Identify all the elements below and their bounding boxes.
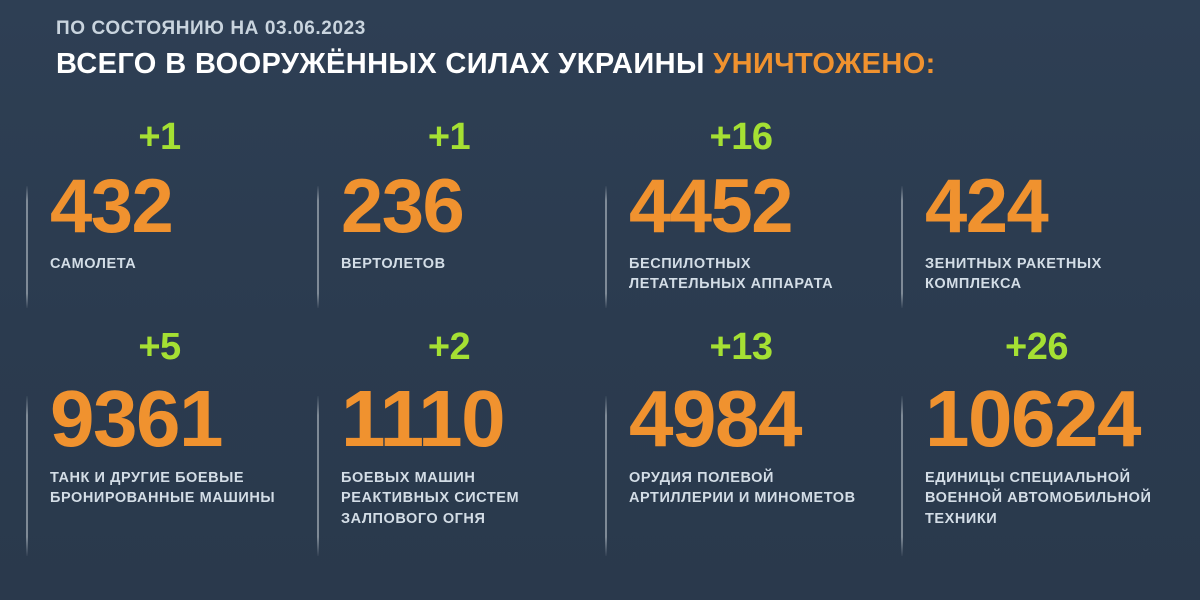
stat-label-line: ВЕРТОЛЕТОВ bbox=[341, 254, 597, 275]
stat-value: 10624 bbox=[925, 382, 1188, 456]
stat-label: ТАНК И ДРУГИЕ БОЕВЫЕ БРОНИРОВАННЫЕ МАШИН… bbox=[50, 468, 309, 509]
stat-label: ЕДИНИЦЫ СПЕЦИАЛЬНОЙ ВОЕННОЙ АВТОМОБИЛЬНО… bbox=[925, 468, 1188, 530]
stat-label-line: ТАНК И ДРУГИЕ БОЕВЫЕ bbox=[50, 468, 309, 489]
stat-label-line: САМОЛЕТА bbox=[50, 254, 309, 275]
stats-row: +5 9361 ТАНК И ДРУГИЕ БОЕВЫЕ БРОНИРОВАНН… bbox=[0, 328, 1200, 568]
stat-value: 1110 bbox=[341, 382, 597, 456]
stat-label: ОРУДИЯ ПОЛЕВОЙ АРТИЛЛЕРИИ И МИНОМЕТОВ bbox=[629, 468, 893, 509]
delta-badge: +1 bbox=[50, 118, 309, 164]
cell-divider bbox=[26, 396, 28, 556]
page-title-accent: УНИЧТОЖЕНО: bbox=[713, 48, 935, 80]
cell-divider bbox=[317, 186, 319, 308]
stat-label-line: ЗЕНИТНЫХ РАКЕТНЫХ bbox=[925, 254, 1188, 275]
cell-divider bbox=[26, 186, 28, 308]
stat-label-line: РЕАКТИВНЫХ СИСТЕМ bbox=[341, 488, 597, 509]
stat-cell-military-vehicles: +26 10624 ЕДИНИЦЫ СПЕЦИАЛЬНОЙ ВОЕННОЙ АВ… bbox=[901, 328, 1196, 568]
stat-value: 9361 bbox=[50, 382, 309, 456]
stat-label-line: АРТИЛЛЕРИИ И МИНОМЕТОВ bbox=[629, 488, 893, 509]
infographic-board: ПО СОСТОЯНИЮ НА 03.06.2023 ВСЕГО В ВООРУ… bbox=[0, 0, 1200, 600]
stat-cell-sam-systems: 424 ЗЕНИТНЫХ РАКЕТНЫХ КОМПЛЕКСА bbox=[901, 118, 1196, 328]
stat-cell-helicopters: +1 236 ВЕРТОЛЕТОВ bbox=[317, 118, 605, 328]
stat-label-line: ОРУДИЯ ПОЛЕВОЙ bbox=[629, 468, 893, 489]
stats-row: +1 432 САМОЛЕТА +1 236 ВЕРТОЛЕТОВ +16 44… bbox=[0, 118, 1200, 328]
stat-label-line: БЕСПИЛОТНЫХ bbox=[629, 254, 893, 275]
cell-divider bbox=[317, 396, 319, 556]
stat-label: БЕСПИЛОТНЫХ ЛЕТАТЕЛЬНЫХ АППАРАТА bbox=[629, 254, 893, 295]
stat-label-line: БРОНИРОВАННЫЕ МАШИНЫ bbox=[50, 488, 309, 509]
cell-divider bbox=[901, 396, 903, 556]
stat-label-line: ЕДИНИЦЫ СПЕЦИАЛЬНОЙ bbox=[925, 468, 1188, 489]
delta-badge: +26 bbox=[925, 328, 1188, 374]
delta-badge: +1 bbox=[341, 118, 597, 164]
delta-badge: +16 bbox=[629, 118, 893, 164]
stat-value: 4984 bbox=[629, 382, 893, 456]
stat-value: 432 bbox=[50, 172, 309, 242]
stat-label: БОЕВЫХ МАШИН РЕАКТИВНЫХ СИСТЕМ ЗАЛПОВОГО… bbox=[341, 468, 597, 530]
page-title-main: ВСЕГО В ВООРУЖЁННЫХ СИЛАХ УКРАИНЫ bbox=[56, 48, 705, 80]
stat-label-line: ЗАЛПОВОГО ОГНЯ bbox=[341, 509, 597, 530]
stat-label-line: БОЕВЫХ МАШИН bbox=[341, 468, 597, 489]
stat-cell-aircraft: +1 432 САМОЛЕТА bbox=[26, 118, 317, 328]
stat-value: 424 bbox=[925, 172, 1188, 242]
stat-label-line: ТЕХНИКИ bbox=[925, 509, 1188, 530]
stat-cell-uav: +16 4452 БЕСПИЛОТНЫХ ЛЕТАТЕЛЬНЫХ АППАРАТ… bbox=[605, 118, 901, 328]
stat-label-line: ВОЕННОЙ АВТОМОБИЛЬНОЙ bbox=[925, 488, 1188, 509]
cell-divider bbox=[901, 186, 903, 308]
stat-cell-tanks: +5 9361 ТАНК И ДРУГИЕ БОЕВЫЕ БРОНИРОВАНН… bbox=[26, 328, 317, 568]
cell-divider bbox=[605, 186, 607, 308]
cell-divider bbox=[605, 396, 607, 556]
header: ПО СОСТОЯНИЮ НА 03.06.2023 ВСЕГО В ВООРУ… bbox=[0, 18, 1200, 81]
stat-value: 4452 bbox=[629, 172, 893, 242]
stat-value: 236 bbox=[341, 172, 597, 242]
stats-grid: +1 432 САМОЛЕТА +1 236 ВЕРТОЛЕТОВ +16 44… bbox=[0, 118, 1200, 568]
stat-cell-artillery: +13 4984 ОРУДИЯ ПОЛЕВОЙ АРТИЛЛЕРИИ И МИН… bbox=[605, 328, 901, 568]
stat-label: САМОЛЕТА bbox=[50, 254, 309, 275]
delta-badge: +13 bbox=[629, 328, 893, 374]
page-title: ВСЕГО В ВООРУЖЁННЫХ СИЛАХ УКРАИНЫ УНИЧТО… bbox=[56, 48, 1200, 81]
stat-label-line: КОМПЛЕКСА bbox=[925, 274, 1188, 295]
stat-label: ВЕРТОЛЕТОВ bbox=[341, 254, 597, 275]
date-line: ПО СОСТОЯНИЮ НА 03.06.2023 bbox=[56, 18, 1200, 41]
delta-badge: +5 bbox=[50, 328, 309, 374]
delta-badge: +2 bbox=[341, 328, 597, 374]
stat-label: ЗЕНИТНЫХ РАКЕТНЫХ КОМПЛЕКСА bbox=[925, 254, 1188, 295]
stat-cell-mlrs: +2 1110 БОЕВЫХ МАШИН РЕАКТИВНЫХ СИСТЕМ З… bbox=[317, 328, 605, 568]
stat-label-line: ЛЕТАТЕЛЬНЫХ АППАРАТА bbox=[629, 274, 893, 295]
